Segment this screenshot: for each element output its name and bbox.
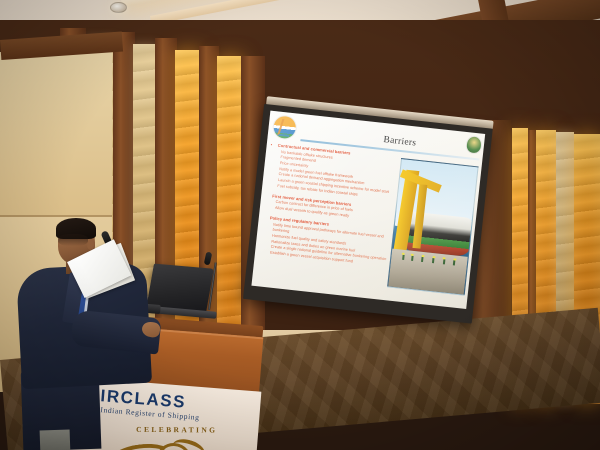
speaker-person <box>14 218 164 448</box>
speaker-trousers <box>40 429 71 450</box>
slide-photo-shipyard <box>387 158 479 296</box>
projection-screen[interactable]: Barriers Contractual and commercial barr… <box>242 96 496 335</box>
slide-surface: Barriers Contractual and commercial barr… <box>251 111 485 309</box>
downlight-icon <box>110 2 127 13</box>
bullet-group: Contractual and commercial barriers No b… <box>270 142 398 201</box>
slide-bullet-content: Contractual and commercial barriers No b… <box>262 142 398 273</box>
photo-dock <box>388 248 468 294</box>
amrit-mahotsav-75-logo-icon <box>273 115 297 139</box>
presentation-room-photo: Barriers Contractual and commercial barr… <box>0 0 600 450</box>
bullet-group: Policy and regulatory barriers Notify ti… <box>263 215 391 269</box>
speaker-hair-fade <box>58 234 88 246</box>
